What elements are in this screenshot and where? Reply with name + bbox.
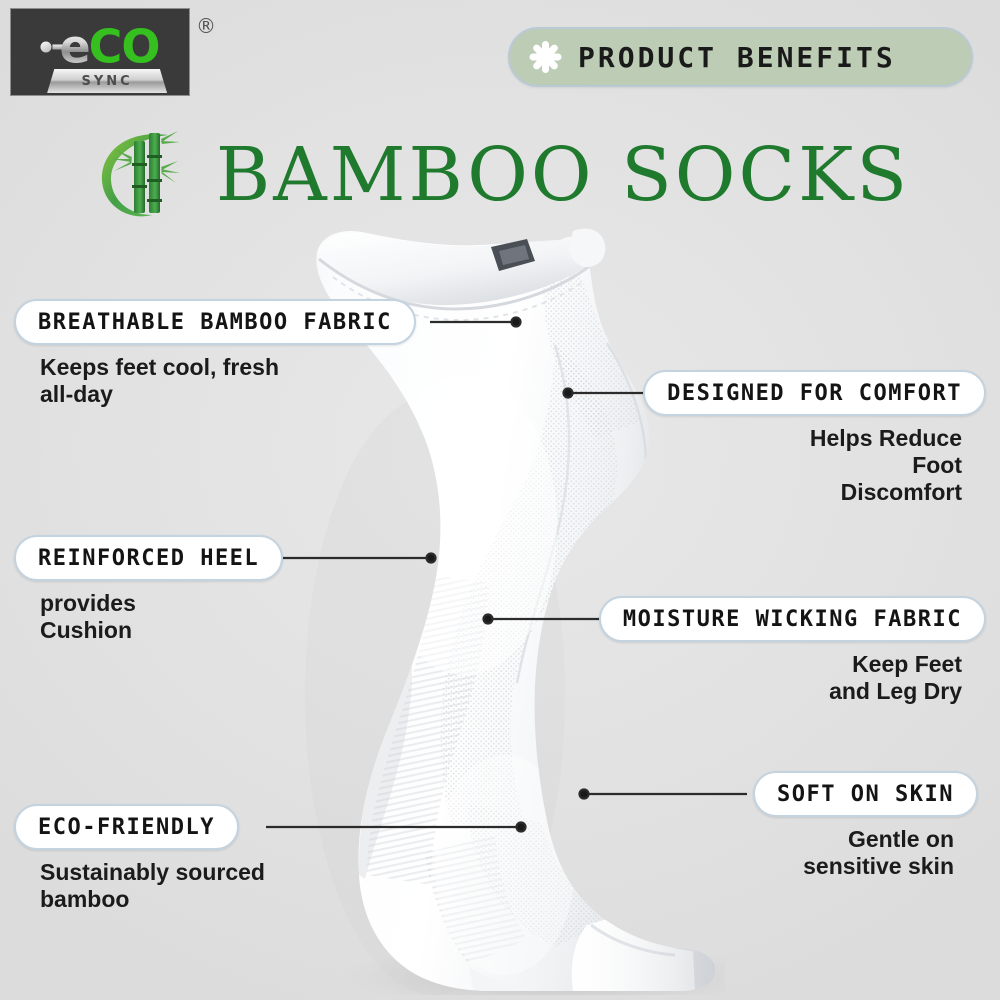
infographic-page: e CO SYNC ® PRODUCT BENEFITS bbox=[0, 0, 1000, 1000]
callout-moisture-wicking-fabric: MOISTURE WICKING FABRIC Keep Feet and Le… bbox=[599, 596, 986, 705]
callout-label: DESIGNED FOR COMFORT bbox=[667, 381, 962, 406]
callout-eco-friendly: ECO-FRIENDLY Sustainably sourced bamboo bbox=[14, 804, 265, 913]
logo-wordmark: e CO bbox=[40, 23, 159, 69]
callout-label: MOISTURE WICKING FABRIC bbox=[623, 607, 962, 632]
page-title: BAMBOO SOCKS bbox=[0, 120, 1000, 230]
callout-pill-breathable-bamboo-fabric[interactable]: BREATHABLE BAMBOO FABRIC bbox=[14, 299, 416, 345]
callout-description: Helps Reduce Foot Discomfort bbox=[643, 425, 986, 506]
callout-label: ECO-FRIENDLY bbox=[38, 815, 215, 840]
callout-pill-designed-for-comfort[interactable]: DESIGNED FOR COMFORT bbox=[643, 370, 986, 416]
brand-logo: e CO SYNC bbox=[10, 8, 190, 96]
callout-description: provides Cushion bbox=[14, 590, 283, 644]
logo-letters-co: CO bbox=[89, 23, 160, 69]
callout-reinforced-heel: REINFORCED HEEL provides Cushion bbox=[14, 535, 283, 644]
product-benefits-label: PRODUCT BENEFITS bbox=[578, 41, 896, 74]
callout-description: Sustainably sourced bamboo bbox=[14, 859, 265, 913]
callout-description: Keep Feet and Leg Dry bbox=[599, 651, 986, 705]
callout-description: Gentle on sensitive skin bbox=[753, 826, 978, 880]
logo-sync-banner: SYNC bbox=[47, 69, 167, 93]
logo-letter-e: e bbox=[59, 23, 88, 69]
callout-label: REINFORCED HEEL bbox=[38, 546, 259, 571]
callout-label: SOFT ON SKIN bbox=[777, 782, 954, 807]
bamboo-stalk-icon bbox=[90, 123, 194, 227]
product-benefits-badge: PRODUCT BENEFITS bbox=[508, 27, 973, 87]
logo-dot-icon bbox=[40, 41, 51, 52]
logo-sync-text: SYNC bbox=[82, 74, 133, 89]
callout-pill-eco-friendly[interactable]: ECO-FRIENDLY bbox=[14, 804, 239, 850]
callout-description: Keeps feet cool, fresh all-day bbox=[14, 354, 416, 408]
callout-soft-on-skin: SOFT ON SKIN Gentle on sensitive skin bbox=[753, 771, 978, 880]
callout-pill-reinforced-heel[interactable]: REINFORCED HEEL bbox=[14, 535, 283, 581]
flower-asterisk-icon bbox=[528, 40, 562, 74]
callout-designed-for-comfort: DESIGNED FOR COMFORT Helps Reduce Foot D… bbox=[643, 370, 986, 506]
registered-trademark-icon: ® bbox=[196, 14, 216, 38]
page-title-text: BAMBOO SOCKS bbox=[216, 138, 910, 212]
callout-pill-soft-on-skin[interactable]: SOFT ON SKIN bbox=[753, 771, 978, 817]
callout-pill-moisture-wicking-fabric[interactable]: MOISTURE WICKING FABRIC bbox=[599, 596, 986, 642]
callout-breathable-bamboo-fabric: BREATHABLE BAMBOO FABRIC Keeps feet cool… bbox=[14, 299, 416, 408]
callout-label: BREATHABLE BAMBOO FABRIC bbox=[38, 310, 392, 335]
